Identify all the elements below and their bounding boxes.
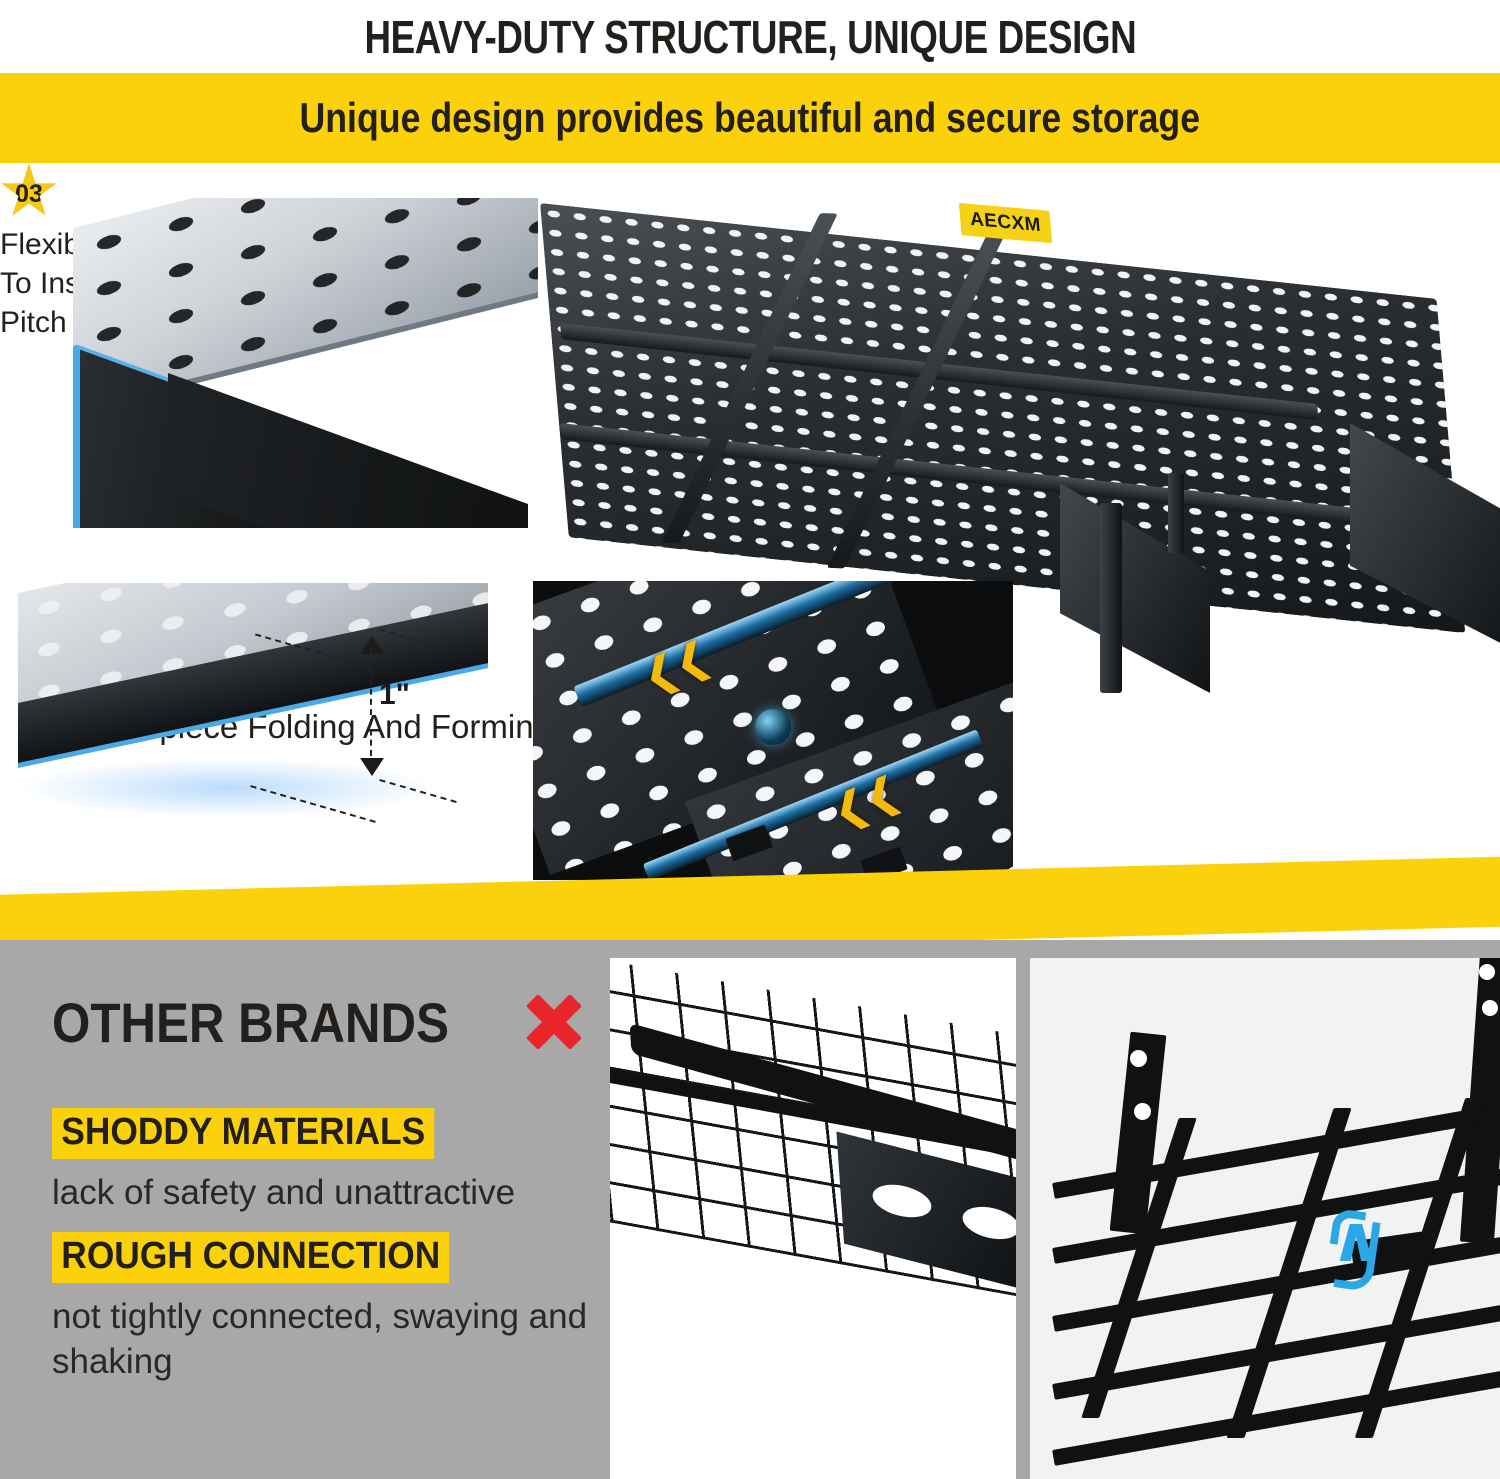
bracket-hole — [1134, 1103, 1151, 1120]
comparison-section: OTHER BRANDS SHODDY MATERIALS lack of sa… — [0, 940, 1500, 1479]
channel-lip — [168, 373, 528, 528]
wire-mesh-rack-photo — [610, 958, 1016, 1479]
brand-badge: AECXM — [959, 203, 1053, 243]
page-title: HEAVY-DUTY STRUCTURE, UNIQUE DESIGN — [364, 10, 1136, 64]
folded-channel-photo — [18, 198, 538, 528]
comparison-item: SHODDY MATERIALS lack of safety and unat… — [52, 1108, 515, 1216]
bracket-hole — [1130, 1050, 1147, 1067]
bracket-hole — [1482, 1000, 1498, 1016]
comparison-heading: OTHER BRANDS — [52, 985, 591, 1059]
frame-thickness-photo: 1" — [18, 583, 518, 873]
slide-rail-photo: ❮❮ ❮❮ — [533, 581, 1013, 881]
rough-frame-photo: ∧ — [1030, 958, 1500, 1479]
comparison-item-title: SHODDY MATERIALS — [52, 1108, 434, 1159]
bracket-hole — [1479, 964, 1495, 980]
arrow-up-icon — [360, 636, 384, 654]
comparison-item-description: not tightly connected, swaying and shaki… — [52, 1295, 612, 1385]
perforated-deck — [540, 203, 1465, 633]
header-title-bar: HEAVY-DUTY STRUCTURE, UNIQUE DESIGN — [0, 0, 1500, 73]
bolt-icon — [755, 709, 791, 745]
comparison-item: ROUGH CONNECTION not tightly connected, … — [52, 1232, 612, 1385]
support-leg — [1100, 503, 1122, 693]
comparison-item-title: ROUGH CONNECTION — [52, 1232, 450, 1283]
header-subtitle-band: Unique design provides beautiful and sec… — [0, 73, 1500, 163]
support-leg — [1168, 473, 1184, 553]
dimension-annotation: 1" — [343, 608, 493, 853]
comparison-heading-text: OTHER BRANDS — [52, 990, 449, 1055]
page-subtitle: Unique design provides beautiful and sec… — [300, 94, 1201, 142]
arrow-down-icon — [360, 758, 384, 776]
comparison-item-description: lack of safety and unattractive — [52, 1171, 515, 1216]
features-section: AECXM 01 One-piece Folding And Forming — [0, 163, 1500, 923]
dimension-label: 1" — [379, 678, 410, 712]
x-mark-icon — [517, 985, 591, 1059]
infographic-page: HEAVY-DUTY STRUCTURE, UNIQUE DESIGN Uniq… — [0, 0, 1500, 1479]
